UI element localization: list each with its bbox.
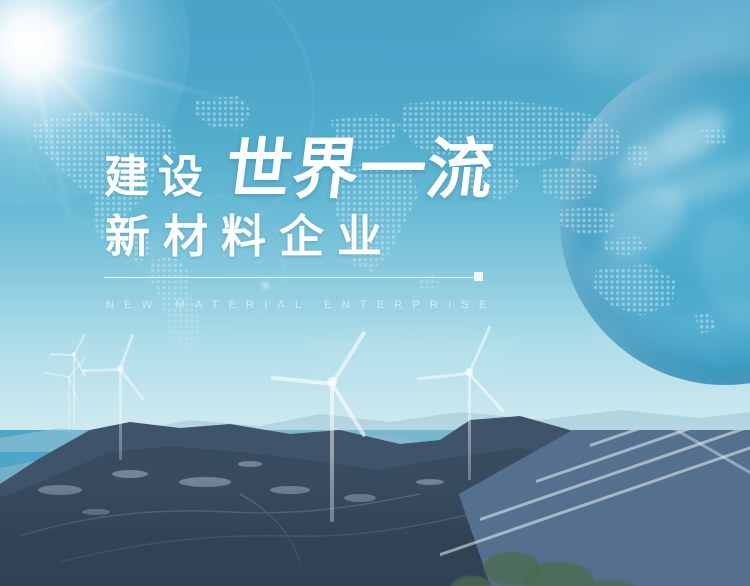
headline-emphasis: 世界一流 bbox=[222, 136, 498, 202]
headline-prefix: 建设 bbox=[104, 154, 212, 199]
headline-line-1: 建设 世界一流 bbox=[104, 136, 494, 202]
headline-divider bbox=[104, 277, 478, 278]
headline-line-2: 新材料企业 bbox=[105, 214, 395, 259]
headline-divider-cap bbox=[474, 272, 483, 281]
subtitle-text: NEW MATERIAL ENTERPRISE bbox=[106, 299, 496, 311]
hero-text-block: 建设 世界一流 新材料企业 NEW MATERIAL ENTERPRISE bbox=[0, 0, 750, 586]
hero-banner: 建设 世界一流 新材料企业 NEW MATERIAL ENTERPRISE bbox=[0, 0, 750, 586]
